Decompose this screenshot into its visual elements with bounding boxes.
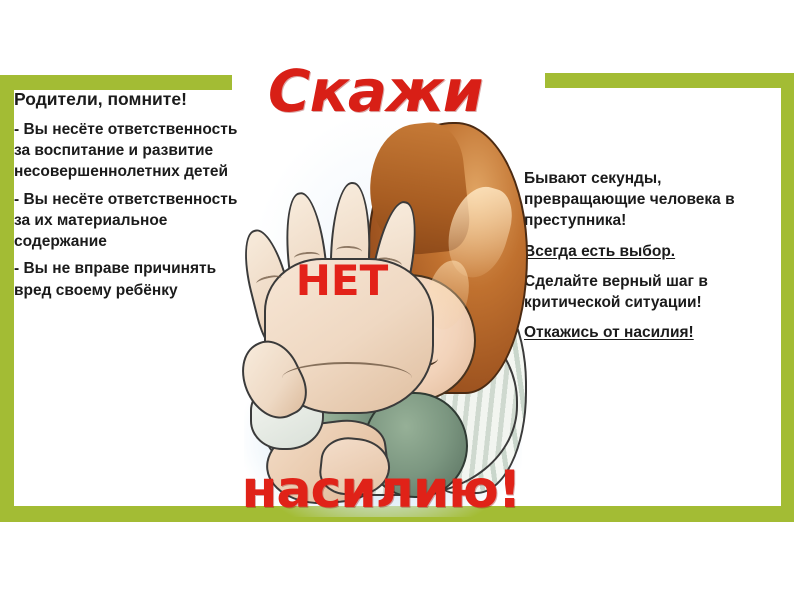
headline-top-text: Скажи	[268, 62, 518, 120]
left-column-paragraph-2: - Вы несёте ответственность за их матери…	[14, 189, 240, 253]
right-text-column: Бывают секунды, превращающие человека в …	[524, 168, 776, 353]
hand-knuckle-3	[336, 245, 362, 256]
right-column-paragraph-3: Сделайте верный шаг в критической ситуац…	[524, 271, 776, 313]
poster-canvas: Родители, помните! - Вы несёте ответстве…	[0, 0, 800, 600]
right-column-paragraph-1: Бывают секунды, превращающие человека в …	[524, 168, 776, 232]
headline-bottom-text: насилию!	[216, 464, 546, 516]
frame-border-top-right	[545, 73, 793, 88]
left-text-column: Родители, помните! - Вы несёте ответстве…	[14, 88, 240, 307]
right-column-paragraph-2: Всегда есть выбор.	[524, 241, 776, 262]
frame-border-left	[0, 75, 14, 522]
palm-no-text: НЕТ	[262, 260, 422, 302]
right-column-paragraph-4: Откажись от насилия!	[524, 322, 776, 343]
frame-border-right	[781, 73, 794, 522]
left-column-paragraph-3: - Вы не вправе причинять вред своему реб…	[14, 258, 240, 300]
left-column-headline: Родители, помните!	[14, 88, 240, 112]
central-illustration: НЕТ Скажи насилию!	[238, 62, 528, 532]
left-column-paragraph-1: - Вы несёте ответственность за воспитани…	[14, 119, 240, 183]
hand-palm-crease	[282, 362, 412, 394]
